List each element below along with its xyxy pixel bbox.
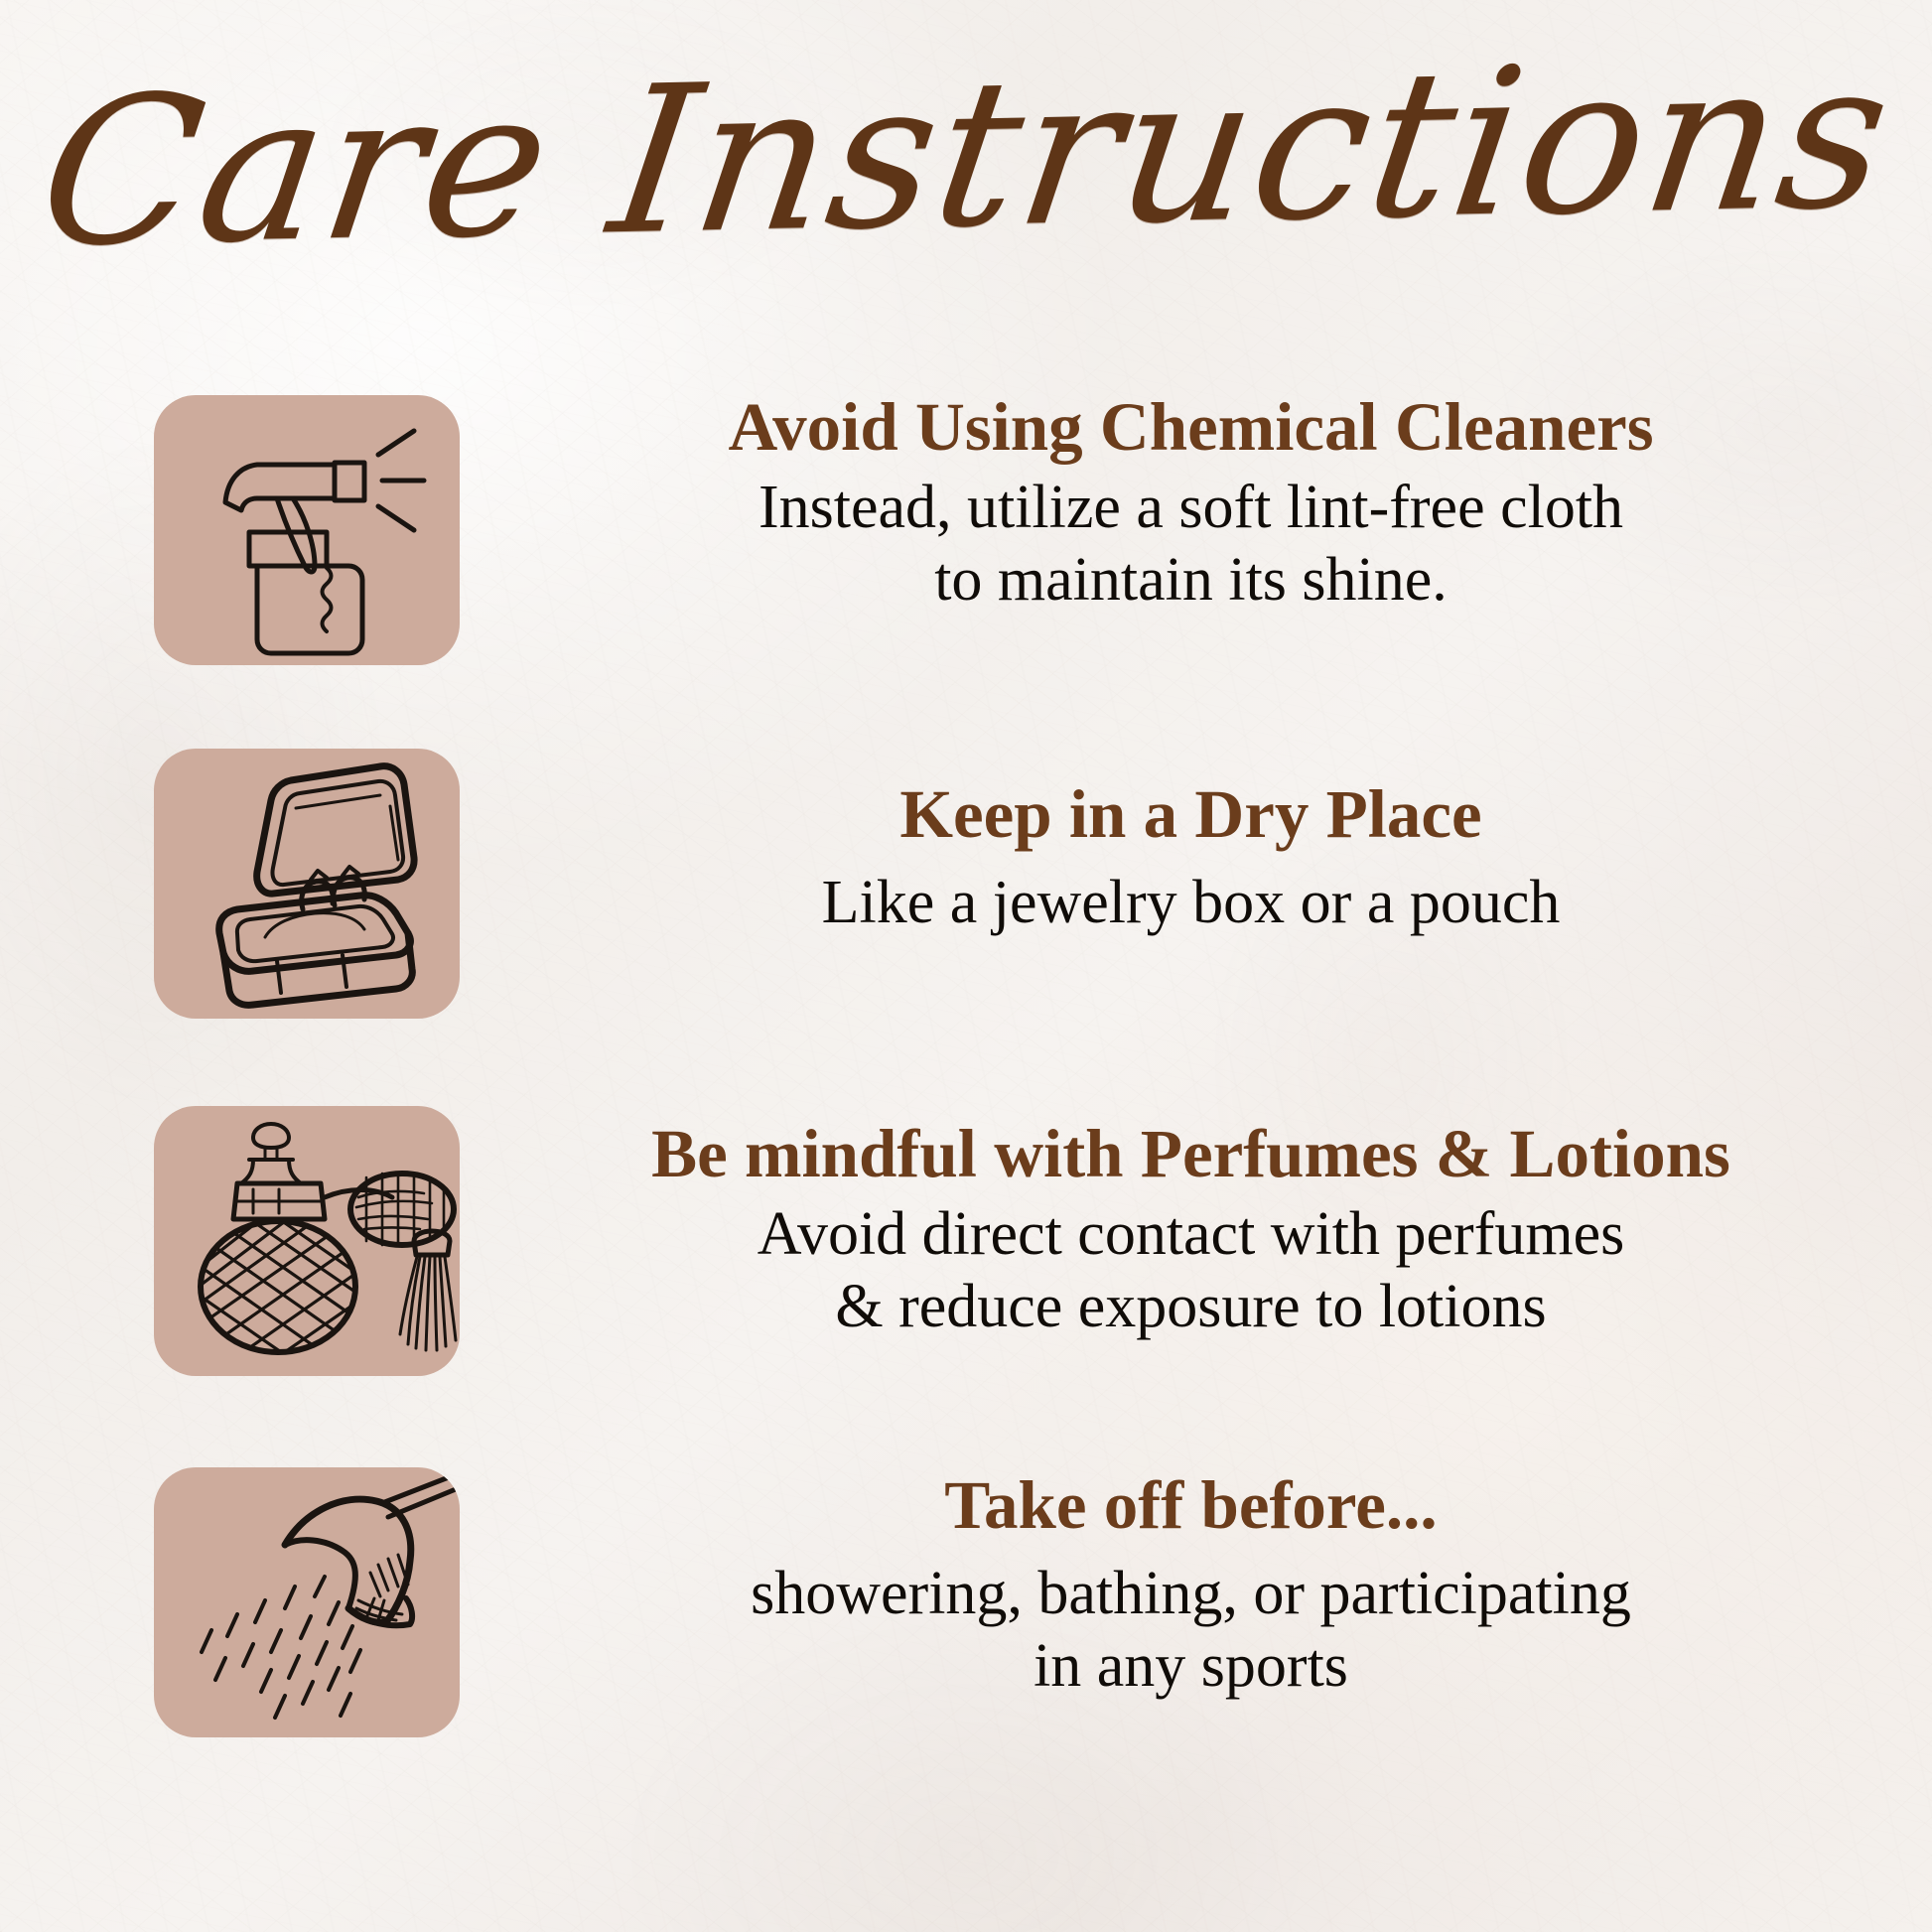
instruction-body-line: Like a jewelry box or a pouch bbox=[497, 867, 1884, 939]
instruction-copy: Avoid Using Chemical Cleaners Instead, u… bbox=[460, 389, 1932, 618]
instruction-row: Keep in a Dry Place Like a jewelry box o… bbox=[0, 749, 1932, 1019]
spray-bottle-icon bbox=[154, 395, 460, 665]
instruction-body-line: Avoid direct contact with perfumes bbox=[497, 1198, 1884, 1271]
instruction-heading: Take off before... bbox=[497, 1467, 1884, 1544]
instruction-body-line: to maintain its shine. bbox=[497, 544, 1884, 617]
icon-tile-spray-bottle bbox=[154, 395, 460, 665]
icon-tile-shower-head bbox=[154, 1467, 460, 1737]
instruction-body: Avoid direct contact with perfumes & red… bbox=[497, 1198, 1884, 1343]
title-container: Care Instructions bbox=[0, 54, 1932, 257]
instruction-copy: Take off before... showering, bathing, o… bbox=[460, 1461, 1932, 1704]
instruction-body: showering, bathing, or participating in … bbox=[497, 1558, 1884, 1703]
care-instructions-page: Care Instructions bbox=[0, 0, 1932, 1932]
instruction-body-line: showering, bathing, or participating bbox=[497, 1558, 1884, 1630]
perfume-bottle-icon bbox=[154, 1106, 460, 1376]
instruction-body: Like a jewelry box or a pouch bbox=[497, 867, 1884, 939]
instruction-copy: Be mindful with Perfumes & Lotions Avoid… bbox=[460, 1106, 1932, 1344]
instruction-body-line: in any sports bbox=[497, 1630, 1884, 1703]
instruction-list: Avoid Using Chemical Cleaners Instead, u… bbox=[0, 389, 1932, 1737]
instruction-heading: Avoid Using Chemical Cleaners bbox=[497, 389, 1884, 466]
instruction-row: Avoid Using Chemical Cleaners Instead, u… bbox=[0, 389, 1932, 665]
jewelry-box-icon bbox=[154, 749, 460, 1019]
instruction-heading: Keep in a Dry Place bbox=[497, 776, 1884, 853]
shower-head-icon bbox=[154, 1467, 460, 1737]
instruction-heading: Be mindful with Perfumes & Lotions bbox=[497, 1116, 1884, 1192]
instruction-row: Be mindful with Perfumes & Lotions Avoid… bbox=[0, 1106, 1932, 1376]
instruction-body-line: & reduce exposure to lotions bbox=[497, 1271, 1884, 1343]
icon-tile-perfume-bottle bbox=[154, 1106, 460, 1376]
instruction-body: Instead, utilize a soft lint-free cloth … bbox=[497, 472, 1884, 617]
instruction-copy: Keep in a Dry Place Like a jewelry box o… bbox=[460, 749, 1932, 939]
instruction-body-line: Instead, utilize a soft lint-free cloth bbox=[497, 472, 1884, 544]
instruction-row: Take off before... showering, bathing, o… bbox=[0, 1461, 1932, 1737]
icon-tile-jewelry-box bbox=[154, 749, 460, 1019]
page-title: Care Instructions bbox=[30, 35, 1901, 277]
